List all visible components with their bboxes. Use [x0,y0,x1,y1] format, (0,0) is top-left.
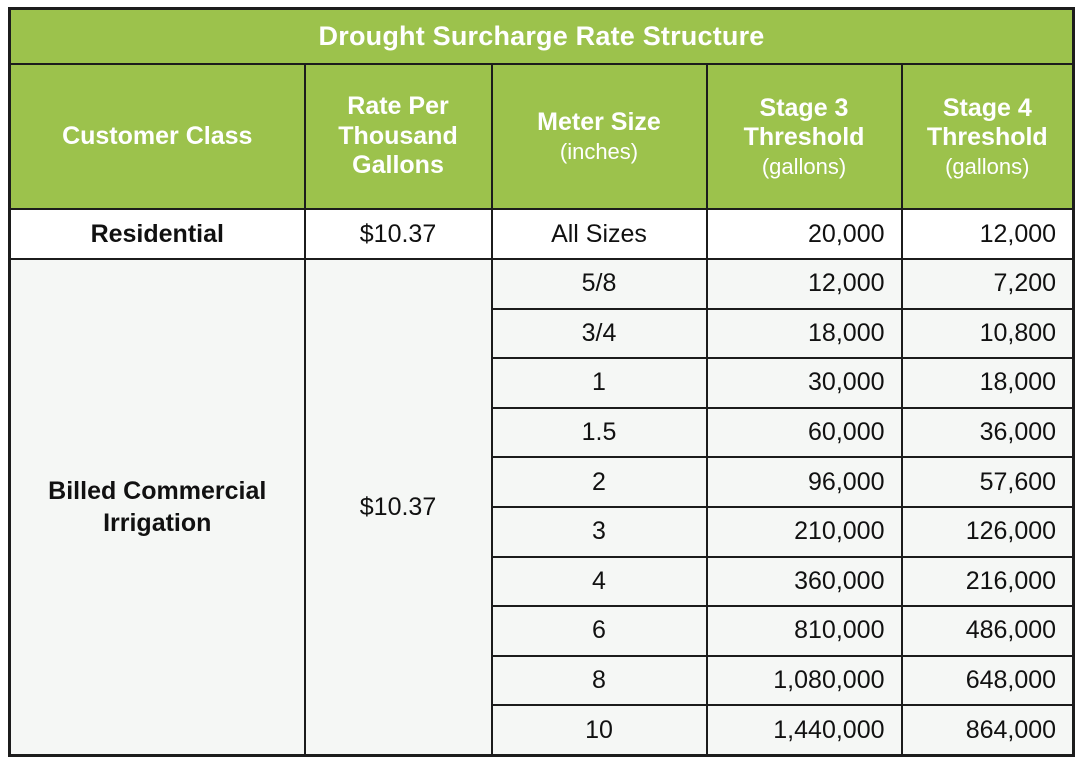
column-header-customer-class-label: Customer Class [11,122,304,152]
cell-stage4-threshold: 57,600 [902,457,1074,507]
column-header-rate-per-thousand-gallons: Rate Per Thousand Gallons [305,64,492,210]
column-header-stage3-line1: Stage 3 [708,94,901,124]
cell-meter-size: 5/8 [492,259,707,309]
cell-stage3-threshold: 360,000 [707,557,902,607]
cell-meter-size: 10 [492,705,707,755]
column-header-rate-line1: Rate Per [306,92,491,122]
column-header-stage4-unit: (gallons) [903,154,1073,180]
cell-rate-billed-commercial-irrigation: $10.37 [305,259,492,756]
cell-meter-size: 1.5 [492,408,707,458]
drought-surcharge-rate-table: Drought Surcharge Rate Structure Custome… [8,7,1075,757]
column-header-meter-size-label: Meter Size [493,108,706,138]
table-title-row: Drought Surcharge Rate Structure [10,9,1074,64]
cell-meter-size: 8 [492,656,707,706]
cell-stage4-threshold: 126,000 [902,507,1074,557]
column-header-meter-size-unit: (inches) [493,139,706,165]
cell-stage3-threshold: 30,000 [707,358,902,408]
cell-stage4-threshold: 486,000 [902,606,1074,656]
cell-meter-size: 6 [492,606,707,656]
cell-stage3-threshold: 18,000 [707,309,902,359]
cell-stage4-threshold: 12,000 [902,209,1074,259]
cell-stage3-threshold: 96,000 [707,457,902,507]
cell-stage3-threshold: 60,000 [707,408,902,458]
cell-meter-size: 3 [492,507,707,557]
cell-meter-size: 4 [492,557,707,607]
cell-stage4-threshold: 216,000 [902,557,1074,607]
cell-stage3-threshold: 210,000 [707,507,902,557]
cell-meter-size: All Sizes [492,209,707,259]
table-header-row: Customer Class Rate Per Thousand Gallons… [10,64,1074,210]
column-header-stage3-line2: Threshold [708,123,901,153]
cell-meter-size: 1 [492,358,707,408]
cell-stage3-threshold: 1,440,000 [707,705,902,755]
table-row: Billed Commercial Irrigation $10.37 5/8 … [10,259,1074,309]
column-header-stage4-line2: Threshold [903,123,1073,153]
column-header-meter-size: Meter Size (inches) [492,64,707,210]
table-row: Residential $10.37 All Sizes 20,000 12,0… [10,209,1074,259]
cell-stage4-threshold: 648,000 [902,656,1074,706]
cell-stage4-threshold: 18,000 [902,358,1074,408]
column-header-stage3-threshold: Stage 3 Threshold (gallons) [707,64,902,210]
column-header-stage4-threshold: Stage 4 Threshold (gallons) [902,64,1074,210]
column-header-rate-line3: Gallons [306,151,491,181]
cell-stage4-threshold: 36,000 [902,408,1074,458]
column-header-rate-line2: Thousand [306,122,491,152]
cell-stage3-threshold: 1,080,000 [707,656,902,706]
cell-stage3-threshold: 12,000 [707,259,902,309]
cell-rate-residential: $10.37 [305,209,492,259]
column-header-stage4-line1: Stage 4 [903,94,1073,124]
cell-stage4-threshold: 864,000 [902,705,1074,755]
cell-stage3-threshold: 20,000 [707,209,902,259]
cell-meter-size: 2 [492,457,707,507]
table-title: Drought Surcharge Rate Structure [10,9,1074,64]
cell-customer-class-residential: Residential [10,209,305,259]
customer-class-line1: Billed Commercial [48,477,266,505]
column-header-customer-class: Customer Class [10,64,305,210]
cell-stage4-threshold: 10,800 [902,309,1074,359]
cell-stage4-threshold: 7,200 [902,259,1074,309]
customer-class-line2: Irrigation [103,509,211,537]
cell-meter-size: 3/4 [492,309,707,359]
cell-stage3-threshold: 810,000 [707,606,902,656]
column-header-stage3-unit: (gallons) [708,154,901,180]
cell-customer-class-billed-commercial-irrigation: Billed Commercial Irrigation [10,259,305,756]
page-container: Drought Surcharge Rate Structure Custome… [0,0,1080,765]
